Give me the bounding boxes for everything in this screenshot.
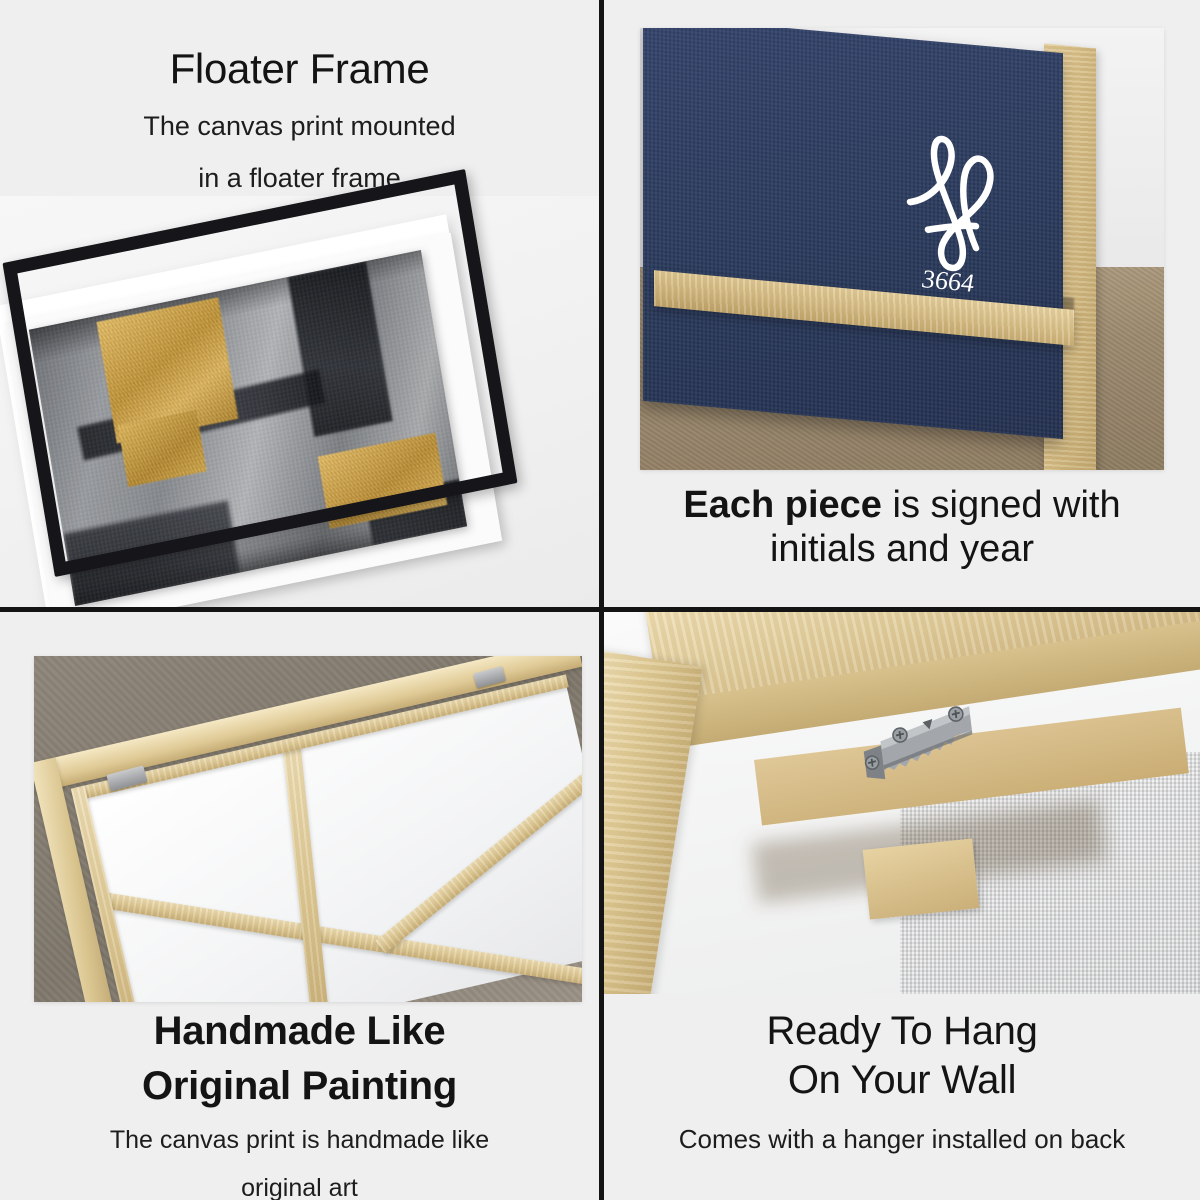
ready-to-hang-subtitle: Comes with a hanger installed on back <box>604 1124 1200 1155</box>
caption-regular-fragment: is signed with <box>882 484 1121 526</box>
handmade-text-block: Handmade Like Original Painting The canv… <box>0 1010 599 1200</box>
signed-canvas-photo: 3664 <box>640 28 1164 470</box>
handmade-subtitle-line1: The canvas print is handmade like <box>0 1126 599 1156</box>
panel-ready-to-hang: Ready To Hang On Your Wall Comes with a … <box>604 612 1200 1200</box>
caption-bold-fragment: Each piece <box>683 484 882 526</box>
panel-signed-piece: 3664 Each piece is signed with initials … <box>604 0 1200 607</box>
signed-piece-caption-line1: Each piece is signed with <box>604 484 1200 528</box>
hanger-detail-photo <box>604 612 1200 994</box>
ready-to-hang-title-line1: Ready To Hang <box>604 1010 1200 1053</box>
horizontal-divider <box>0 607 1200 612</box>
stretcher-frame-back-photo <box>34 656 582 1002</box>
vertical-divider <box>599 0 604 1200</box>
floater-frame-exploded-photo <box>0 196 599 607</box>
floater-frame-subtitle-line2: in a floater frame <box>0 163 599 195</box>
sawtooth-hanger-icon <box>850 692 1001 808</box>
signed-piece-caption-line2: initials and year <box>604 528 1200 572</box>
feature-grid: Floater Frame The canvas print mounted i… <box>0 0 1200 1200</box>
floater-frame-title: Floater Frame <box>0 46 599 91</box>
ready-to-hang-text-block: Ready To Hang On Your Wall Comes with a … <box>604 1010 1200 1155</box>
panel-floater-frame: Floater Frame The canvas print mounted i… <box>0 0 599 607</box>
artist-signature-icon: 3664 <box>888 118 1018 300</box>
panel-handmade: Handmade Like Original Painting The canv… <box>0 612 599 1200</box>
corner-wedge-block <box>863 838 980 919</box>
handmade-subtitle-line2: original art <box>0 1174 599 1200</box>
floater-frame-subtitle-line1: The canvas print mounted <box>0 111 599 143</box>
signed-piece-caption: Each piece is signed with initials and y… <box>604 484 1200 571</box>
handmade-title-line1: Handmade Like <box>0 1010 599 1053</box>
top-left-heading-block: Floater Frame The canvas print mounted i… <box>0 46 599 195</box>
ready-to-hang-title-line2: On Your Wall <box>604 1059 1200 1102</box>
handmade-title-line2: Original Painting <box>0 1065 599 1108</box>
